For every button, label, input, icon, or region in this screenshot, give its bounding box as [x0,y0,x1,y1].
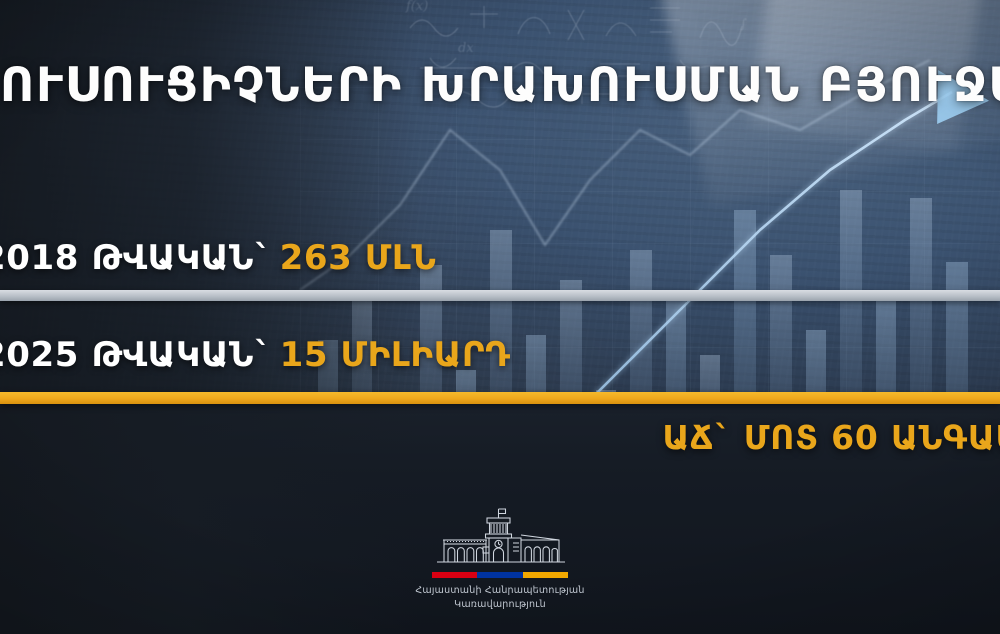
flag-stripe-blue [477,572,522,578]
armenian-flag-bar [432,572,568,578]
stat-value-2018: 263 ՄԼՆ [280,238,437,278]
stat-row-2025: 2025 ԹՎԱԿԱՆ`15 ՄԻԼԻԱՐԴ [0,335,511,375]
government-building-icon [425,507,575,569]
flag-stripe-orange [523,572,568,578]
logo-caption: Հայաստանի Հանրապետության Կառավարություն [415,584,584,612]
stat-value-2025: 15 ՄԻԼԻԱՐԴ [280,335,511,375]
infographic-canvas: dx y ∫ f(x) [0,0,1000,634]
divider-bar-orange [0,392,1000,404]
divider-bar-white [0,290,1000,301]
stat-row-2018: 2018 ԹՎԱԿԱՆ`263 ՄԼՆ [0,238,436,278]
government-logo: Հայաստանի Հանրապետության Կառավարություն [0,507,1000,612]
flag-stripe-red [432,572,477,578]
stat-year-label-2025: 2025 ԹՎԱԿԱՆ` [0,335,272,375]
logo-caption-line2: Կառավարություն [415,598,584,612]
growth-callout: ԱՃ` ՄՈՏ 60 ԱՆԳԱՄ [662,418,1000,457]
stat-year-label-2018: 2018 ԹՎԱԿԱՆ` [0,238,272,278]
page-title: ՈՒՍՈՒՑԻՉՆԵՐԻ ԽՐԱԽՈՒՍՄԱՆ ԲՅՈՒՋԵ [0,58,1000,113]
logo-caption-line1: Հայաստանի Հանրապետության [415,584,584,598]
